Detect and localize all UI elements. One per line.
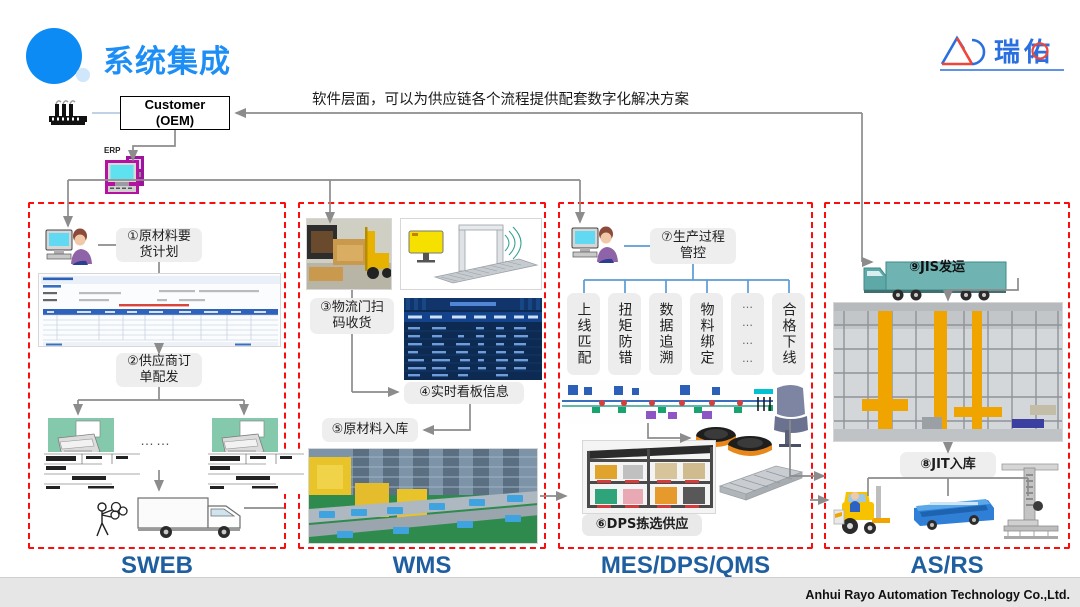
step-9-box: ⑨JIS发运 xyxy=(894,258,980,278)
step-1-box: ①原材料要 货计划 xyxy=(116,228,202,262)
step-6-box: ⑥DPS拣选供应 xyxy=(582,514,702,536)
step-3-box: ③物流门扫 码收货 xyxy=(310,298,394,334)
mes-sub-label-3: 数据追溯 xyxy=(656,302,676,366)
assembly-line-layout-diagram xyxy=(562,381,808,423)
step-5-label: ⑤原材料入库 xyxy=(332,422,409,438)
mes-sub-box-1: 上线匹配 xyxy=(567,293,600,375)
page-title: 系统集成 xyxy=(103,36,231,81)
title-bullet-icon xyxy=(26,28,82,84)
factory-icon xyxy=(44,98,94,131)
column-label-wms: WMS xyxy=(298,552,546,580)
asrs-conveyor-photo xyxy=(308,448,538,544)
step-8-box: ⑧JIT入库 xyxy=(900,452,996,478)
customer-line2: (OEM) xyxy=(156,113,194,129)
svg-text:佑: 佑 xyxy=(1023,38,1050,68)
step-3-label: ③物流门扫 码收货 xyxy=(320,300,384,333)
step-7-label: ⑦生产过程 管控 xyxy=(661,230,725,263)
step-2-label: ②供应商订 单配发 xyxy=(127,354,191,387)
printers-ellipsis: …… xyxy=(140,432,172,448)
printed-label-2 xyxy=(206,452,306,494)
stacker-lift-icon xyxy=(1000,462,1062,545)
mes-sub-box-2: 扭矩防错 xyxy=(608,293,641,375)
dps-picking-rack-photo xyxy=(582,440,716,514)
step-8-label: ⑧JIT入库 xyxy=(920,457,976,473)
customer-oem-box: Customer (OEM) xyxy=(120,96,230,130)
operator-computer-icon-sweb xyxy=(44,224,98,271)
column-label-mes: MES/DPS/QMS xyxy=(558,552,813,580)
delivery-truck xyxy=(136,492,256,545)
step-4-box: ④实时看板信息 xyxy=(404,382,524,404)
mes-sub-label-1: 上线匹配 xyxy=(574,302,594,366)
step-2-box: ②供应商订 单配发 xyxy=(116,353,202,387)
operator-computer-icon-mes xyxy=(570,222,624,269)
forklift-unloading-truck-photo xyxy=(306,218,392,290)
slide-root: 系统集成 瑞 佑 软件层面，可以为供应链各个流程提供配套数字化解决方案 xyxy=(0,0,1080,607)
asrs-high-bay-warehouse-photo xyxy=(833,302,1063,442)
customer-line1: Customer xyxy=(145,97,206,113)
dark-dashboard-table xyxy=(404,298,542,380)
worker-carrying-boxes xyxy=(90,498,130,543)
printed-label-1 xyxy=(42,452,142,494)
agv-shuttle-icon xyxy=(910,490,996,539)
step-4-label: ④实时看板信息 xyxy=(419,385,509,401)
step-5-box: ⑤原材料入库 xyxy=(322,418,418,442)
step-6-label: ⑥DPS拣选供应 xyxy=(596,517,689,533)
erp-computer-icon xyxy=(104,154,156,205)
top-annotation-text: 软件层面，可以为供应链各个流程提供配套数字化解决方案 xyxy=(312,88,689,109)
mes-sub-label-2: 扭矩防错 xyxy=(615,302,635,366)
step-9-label: ⑨JIS发运 xyxy=(909,260,965,276)
order-form-table-screenshot xyxy=(38,273,281,347)
company-logo: 瑞 佑 xyxy=(936,30,1068,74)
mes-sub-label-6: 合格下线 xyxy=(779,302,799,366)
mes-sub-box-3: 数据追溯 xyxy=(649,293,682,375)
svg-text:瑞: 瑞 xyxy=(994,38,1020,68)
title-bullet-small-icon xyxy=(76,68,90,82)
rfid-gate-diagram xyxy=(400,218,542,290)
mes-sub-box-4: 物料绑定 xyxy=(690,293,723,375)
mes-sub-label-5: ………… xyxy=(741,298,754,370)
mes-sub-label-4: 物料绑定 xyxy=(697,302,717,366)
car-seat-photo xyxy=(773,382,811,448)
mes-sub-box-6: 合格下线 xyxy=(772,293,805,375)
column-label-asrs: AS/RS xyxy=(824,552,1070,580)
mes-sub-box-5: ………… xyxy=(731,293,764,375)
conveyor-frame-photo xyxy=(718,462,804,504)
column-label-sweb: SWEB xyxy=(28,552,286,580)
footer-company-name: Anhui Rayo Automation Technology Co.,Ltd… xyxy=(805,588,1070,602)
step-7-box: ⑦生产过程 管控 xyxy=(650,228,736,264)
step-1-label: ①原材料要 货计划 xyxy=(127,229,191,262)
forklift-icon xyxy=(832,482,906,543)
